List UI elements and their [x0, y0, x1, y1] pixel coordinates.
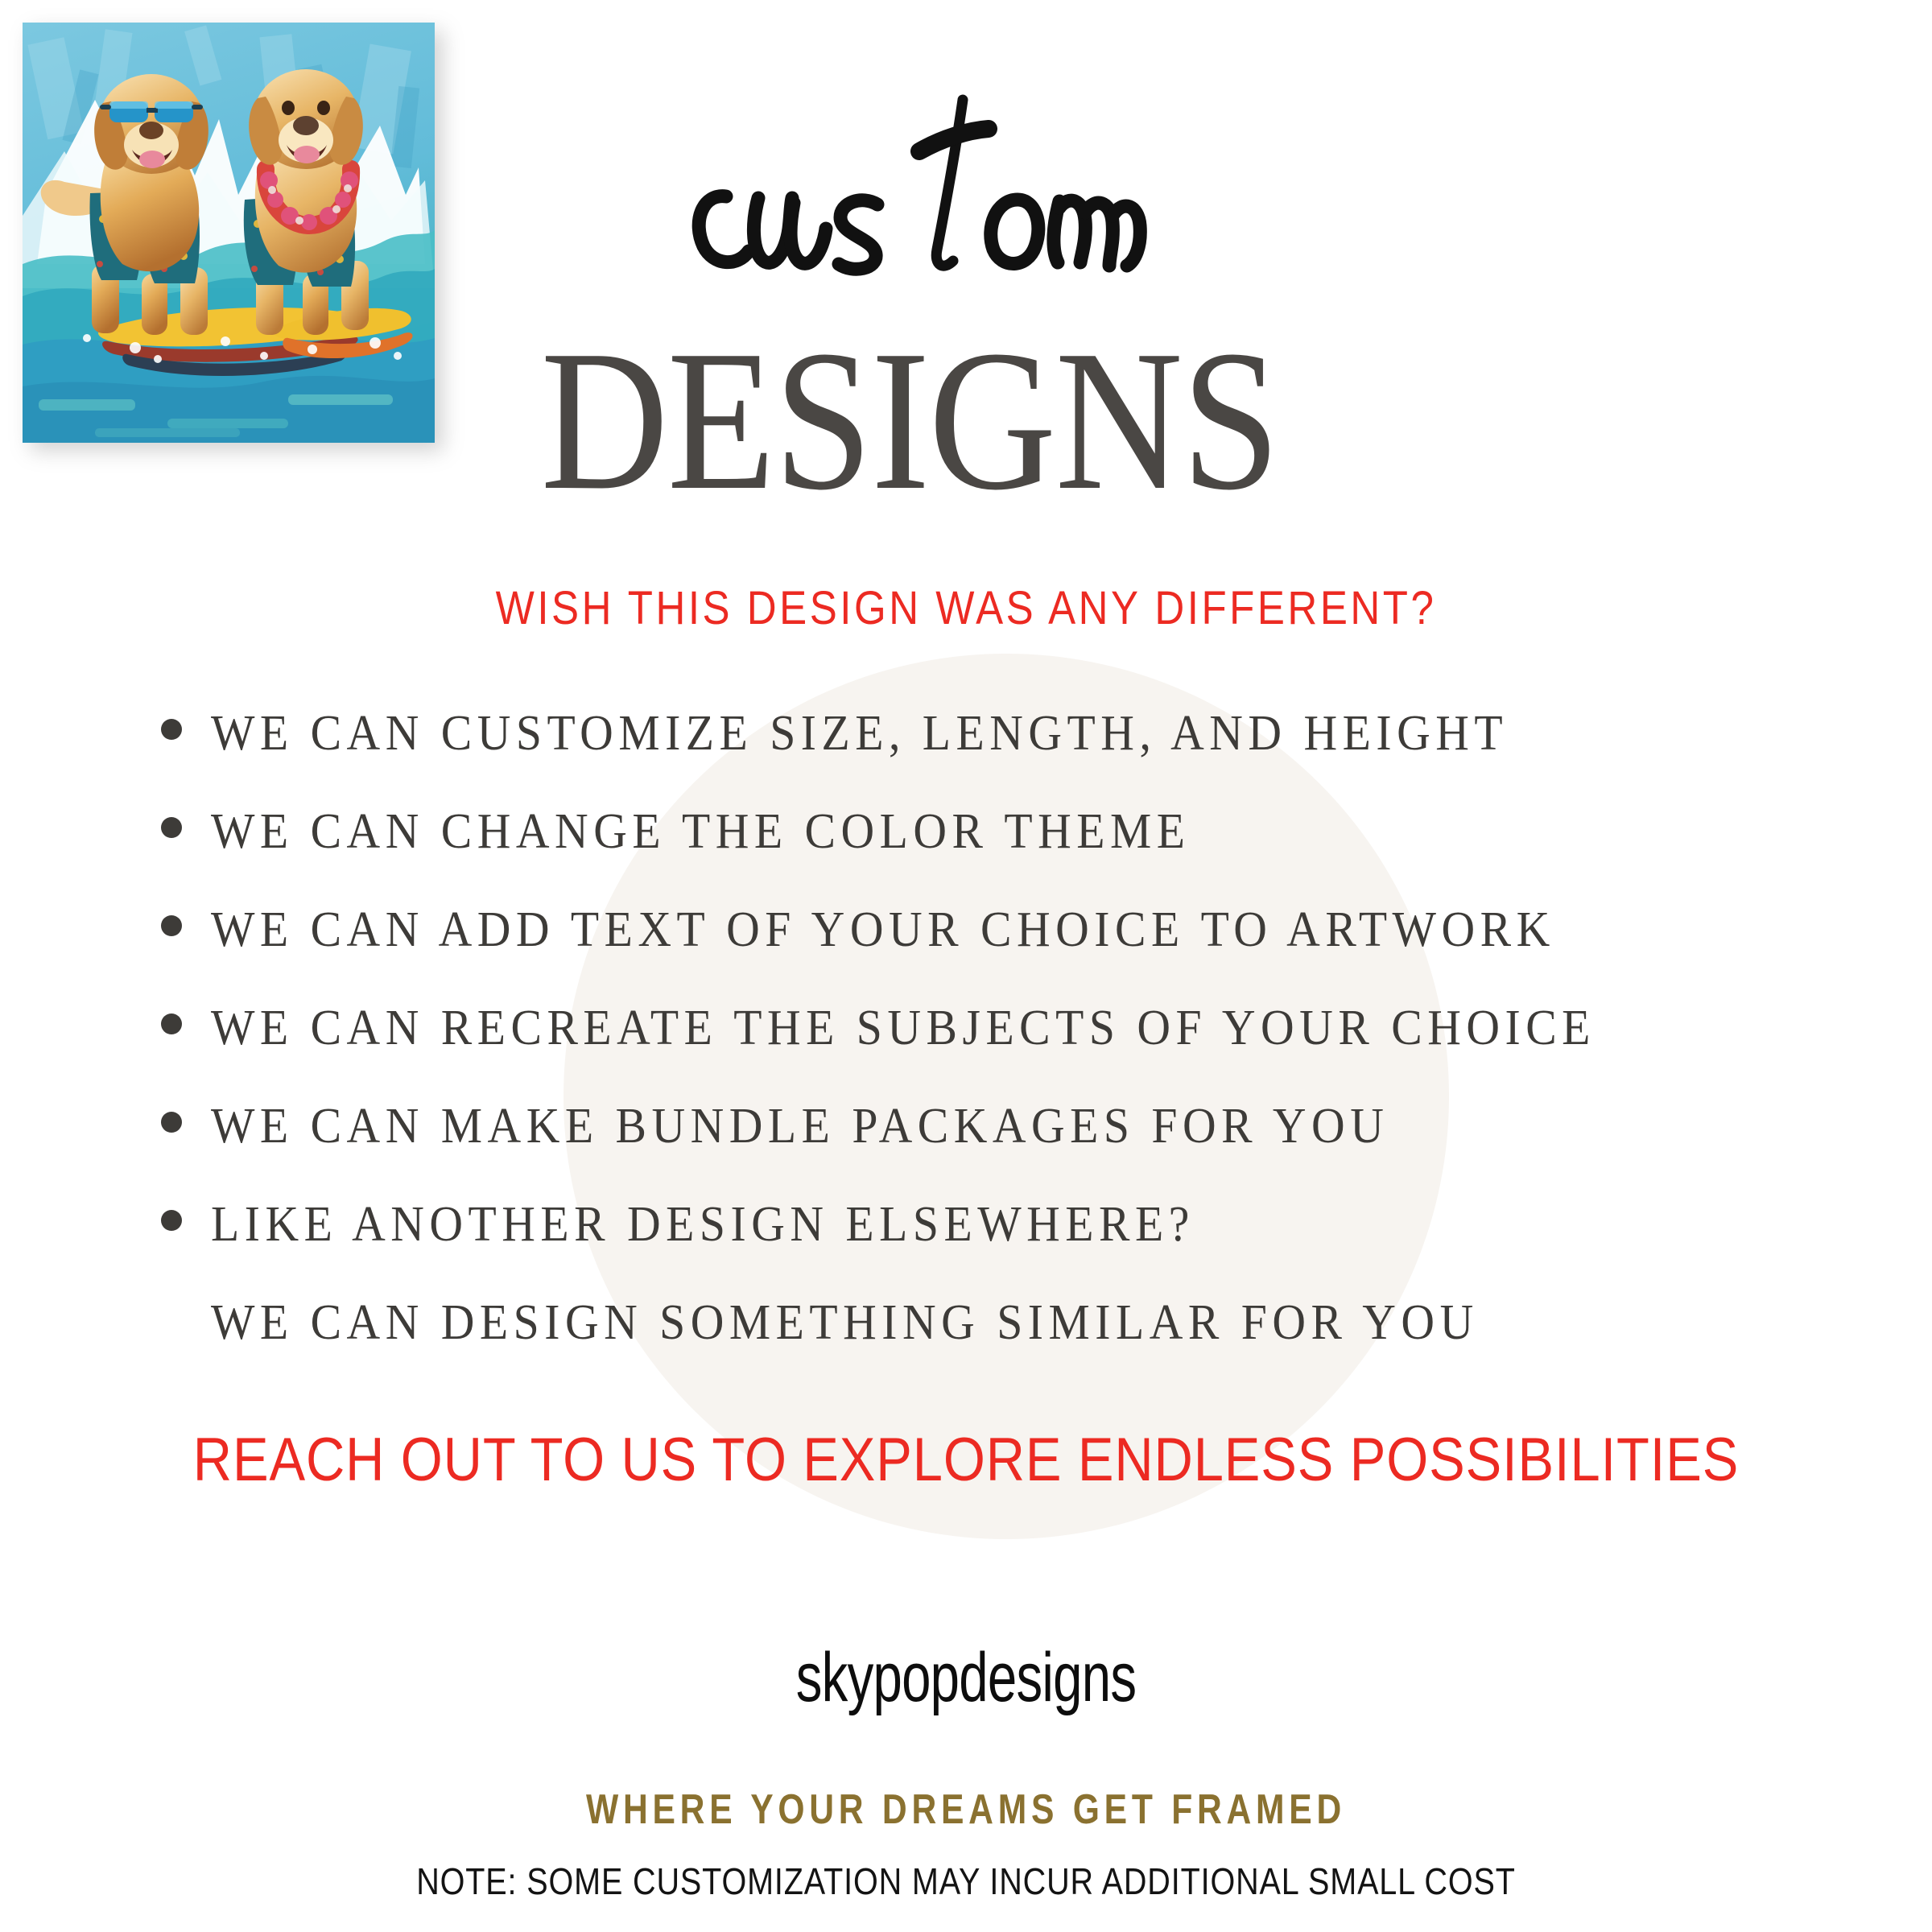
bullet-dot-icon [161, 915, 182, 936]
call-to-action-text: REACH OUT TO US TO EXPLORE ENDLESS POSSI… [116, 1425, 1816, 1495]
benefit-text: WE CAN MAKE BUNDLE PACKAGES FOR YOU [211, 1101, 1389, 1151]
artwork-thumbnail[interactable] [23, 23, 435, 443]
list-item: WE CAN MAKE BUNDLE PACKAGES FOR YOU [0, 1101, 1932, 1199]
list-item: WE CAN CUSTOMIZE SIZE, LENGTH, AND HEIGH… [0, 708, 1932, 807]
surfing-dogs-artwork-icon [23, 23, 435, 443]
bullet-dot-icon [161, 817, 182, 838]
benefit-text: LIKE ANOTHER DESIGN ELSEWHERE? [211, 1199, 1195, 1249]
page-title: DESIGNS [378, 320, 1441, 522]
list-item: LIKE ANOTHER DESIGN ELSEWHERE? [0, 1199, 1932, 1298]
bullet-dot-icon [161, 1210, 182, 1231]
benefits-list: WE CAN CUSTOMIZE SIZE, LENGTH, AND HEIGH… [0, 708, 1932, 1388]
benefit-text: WE CAN CUSTOMIZE SIZE, LENGTH, AND HEIGH… [211, 708, 1508, 758]
promo-poster: DESIGNS WISH THIS DESIGN WAS ANY DIFFERE… [0, 0, 1932, 1932]
list-item: WE CAN ADD TEXT OF YOUR CHOICE TO ARTWOR… [0, 905, 1932, 1003]
benefit-text: WE CAN ADD TEXT OF YOUR CHOICE TO ARTWOR… [211, 905, 1555, 955]
subtitle-question: WISH THIS DESIGN WAS ANY DIFFERENT? [116, 581, 1816, 635]
benefit-text: WE CAN CHANGE THE COLOR THEME [211, 807, 1190, 857]
brand-tagline: WHERE YOUR DREAMS GET FRAMED [174, 1785, 1758, 1834]
bullet-dot-icon [161, 719, 182, 740]
custom-script-lettering [668, 50, 1183, 283]
list-item: WE CAN CHANGE THE COLOR THEME [0, 807, 1932, 905]
benefit-text: WE CAN RECREATE THE SUBJECTS OF YOUR CHO… [211, 1003, 1596, 1053]
brand-logo-text: skypopdesigns [232, 1638, 1700, 1718]
bullet-dot-icon [161, 1013, 182, 1034]
headline-script-word [451, 42, 1401, 283]
benefit-text: WE CAN DESIGN SOMETHING SIMILAR FOR YOU [211, 1298, 1479, 1348]
list-item: WE CAN RECREATE THE SUBJECTS OF YOUR CHO… [0, 1003, 1932, 1101]
bullet-dot-icon [161, 1112, 182, 1133]
footer-note: NOTE: SOME CUSTOMIZATION MAY INCUR ADDIT… [135, 1860, 1797, 1903]
list-item-continuation: WE CAN DESIGN SOMETHING SIMILAR FOR YOU [0, 1298, 1932, 1388]
